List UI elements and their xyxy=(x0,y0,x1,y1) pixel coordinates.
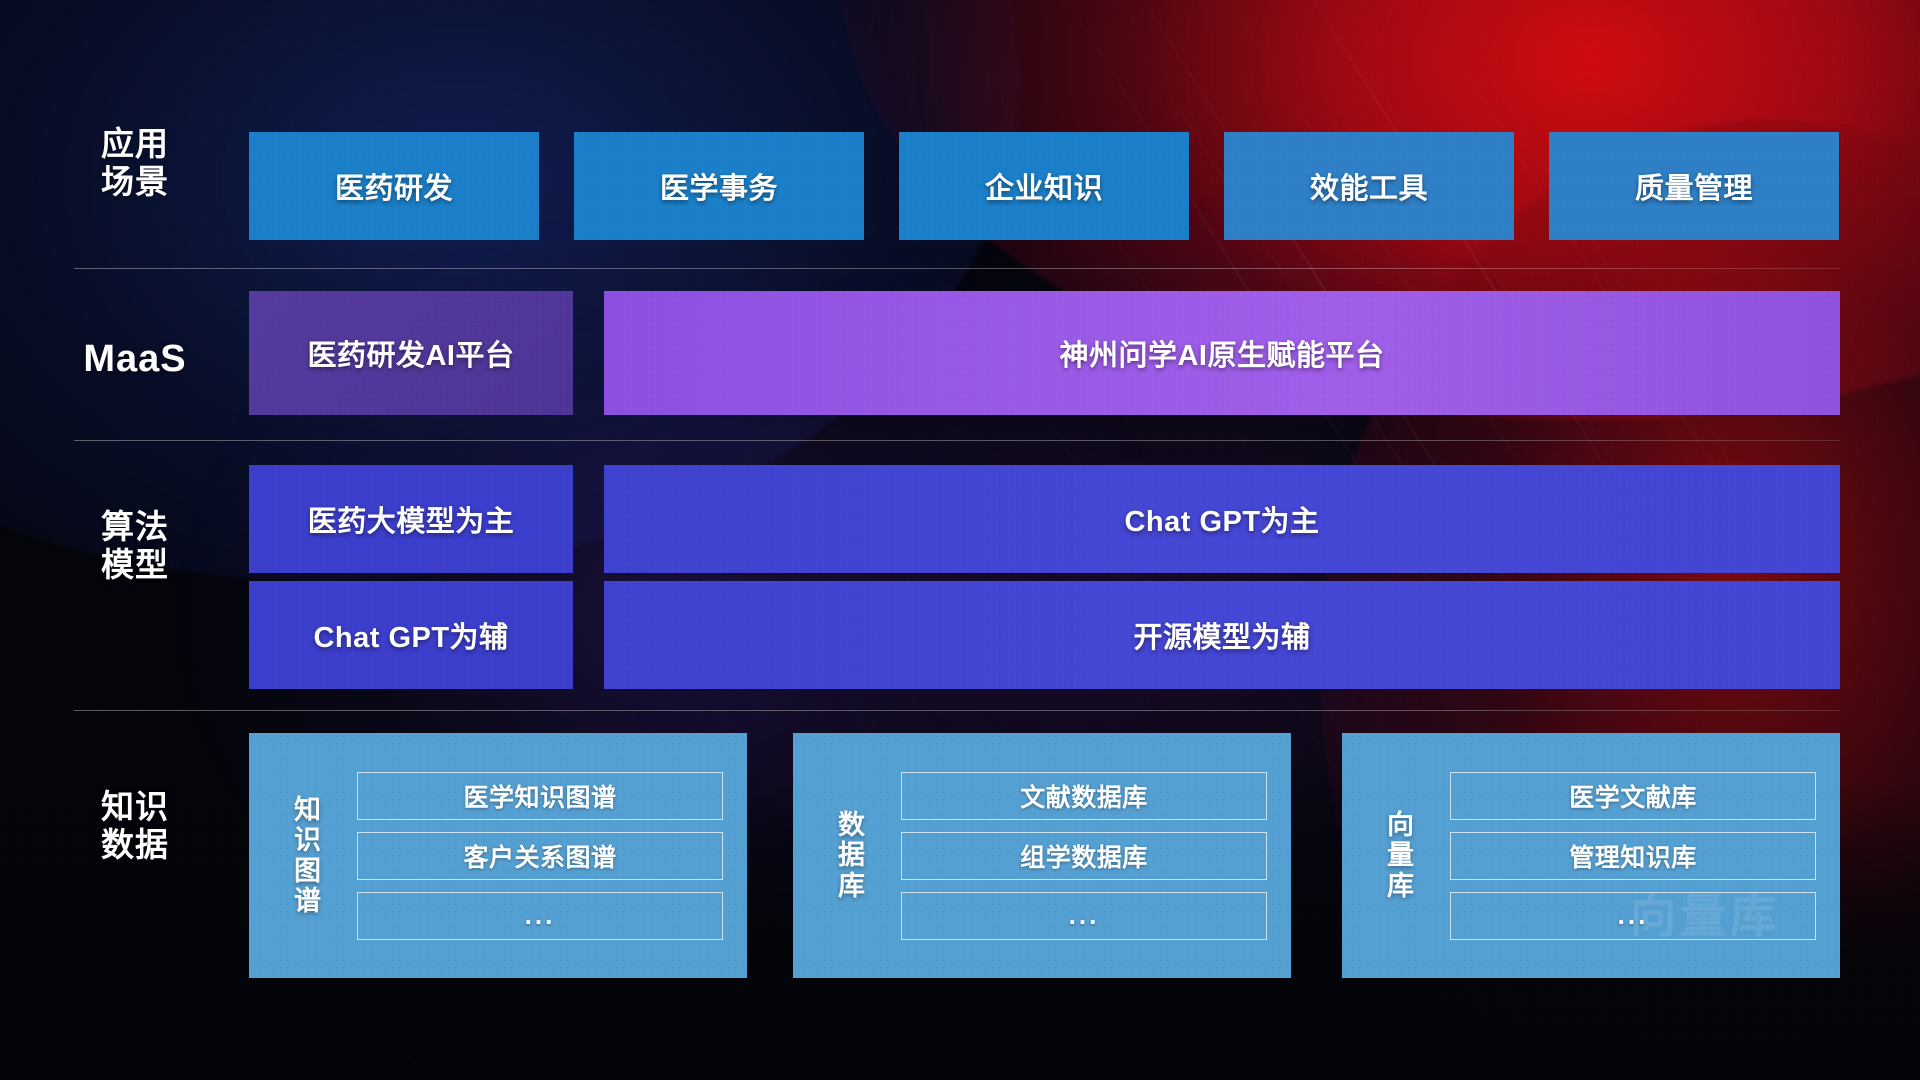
knowledge-item[interactable]: 医学知识图谱 xyxy=(357,772,723,820)
row-label-maas: MaaS xyxy=(60,337,210,381)
app-cell-1[interactable]: 医药研发 xyxy=(249,132,539,240)
knowledge-group-graph-title-c4: 谱 xyxy=(275,886,341,916)
row-label-algorithm-line1: 算法 xyxy=(75,508,195,546)
knowledge-group-graph-title: 知 识 图 谱 xyxy=(275,795,341,916)
architecture-diagram: 应用 场景 医药研发 医学事务 企业知识 效能工具 质量管理 MaaS 医药研发… xyxy=(0,0,1920,1080)
knowledge-group-database-title: 数 据 库 xyxy=(819,810,885,901)
divider-1 xyxy=(74,268,1840,269)
knowledge-group-graph-title-c1: 知 xyxy=(275,795,341,825)
algo-cell-primary-general[interactable]: Chat GPT为主 xyxy=(604,465,1840,573)
divider-3 xyxy=(74,710,1840,711)
knowledge-item-more[interactable]: ... xyxy=(901,892,1267,940)
knowledge-item[interactable]: 医学文献库 xyxy=(1450,772,1816,820)
knowledge-item-more[interactable]: ... xyxy=(1450,892,1816,940)
divider-2 xyxy=(74,440,1840,441)
row-label-application-line1: 应用 xyxy=(75,125,195,163)
knowledge-group-vector-items: 医学文献库 管理知识库 ... xyxy=(1450,772,1816,940)
app-cell-4[interactable]: 效能工具 xyxy=(1224,132,1514,240)
row-label-algorithm-line2: 模型 xyxy=(75,546,195,584)
algo-cell-secondary-general[interactable]: 开源模型为辅 xyxy=(604,581,1840,689)
knowledge-group-database-title-c1: 数 xyxy=(819,810,885,840)
row-label-application-line2: 场景 xyxy=(75,163,195,201)
knowledge-group-graph-title-c3: 图 xyxy=(275,856,341,886)
knowledge-item[interactable]: 管理知识库 xyxy=(1450,832,1816,880)
knowledge-item-more[interactable]: ... xyxy=(357,892,723,940)
knowledge-group-database-title-c2: 据 xyxy=(819,840,885,870)
knowledge-group-vector-title-c1: 向 xyxy=(1368,810,1434,840)
knowledge-group-graph-title-c2: 识 xyxy=(275,825,341,855)
knowledge-group-graph[interactable]: 知 识 图 谱 医学知识图谱 客户关系图谱 ... xyxy=(249,733,747,978)
algo-cell-primary-domain[interactable]: 医药大模型为主 xyxy=(249,465,573,573)
knowledge-item[interactable]: 客户关系图谱 xyxy=(357,832,723,880)
row-label-algorithm: 算法 模型 xyxy=(75,508,195,585)
app-cell-2[interactable]: 医学事务 xyxy=(574,132,864,240)
algo-cell-secondary-domain[interactable]: Chat GPT为辅 xyxy=(249,581,573,689)
knowledge-group-database-title-c3: 库 xyxy=(819,871,885,901)
app-cell-5[interactable]: 质量管理 xyxy=(1549,132,1839,240)
row-label-knowledge-line1: 知识 xyxy=(75,788,195,826)
knowledge-group-vector-title-c3: 库 xyxy=(1368,871,1434,901)
knowledge-item[interactable]: 文献数据库 xyxy=(901,772,1267,820)
maas-cell-left[interactable]: 医药研发AI平台 xyxy=(249,291,573,415)
knowledge-group-vector-title: 向 量 库 xyxy=(1368,810,1434,901)
maas-cell-right[interactable]: 神州问学AI原生赋能平台 xyxy=(604,291,1840,415)
row-label-application: 应用 场景 xyxy=(75,125,195,202)
knowledge-group-database-items: 文献数据库 组学数据库 ... xyxy=(901,772,1267,940)
knowledge-group-graph-items: 医学知识图谱 客户关系图谱 ... xyxy=(357,772,723,940)
knowledge-item[interactable]: 组学数据库 xyxy=(901,832,1267,880)
row-label-knowledge: 知识 数据 xyxy=(75,788,195,865)
app-cell-3[interactable]: 企业知识 xyxy=(899,132,1189,240)
knowledge-group-database[interactable]: 数 据 库 文献数据库 组学数据库 ... xyxy=(793,733,1291,978)
knowledge-group-vector[interactable]: 向 量 库 医学文献库 管理知识库 ... xyxy=(1342,733,1840,978)
knowledge-group-vector-title-c2: 量 xyxy=(1368,840,1434,870)
row-label-knowledge-line2: 数据 xyxy=(75,826,195,864)
